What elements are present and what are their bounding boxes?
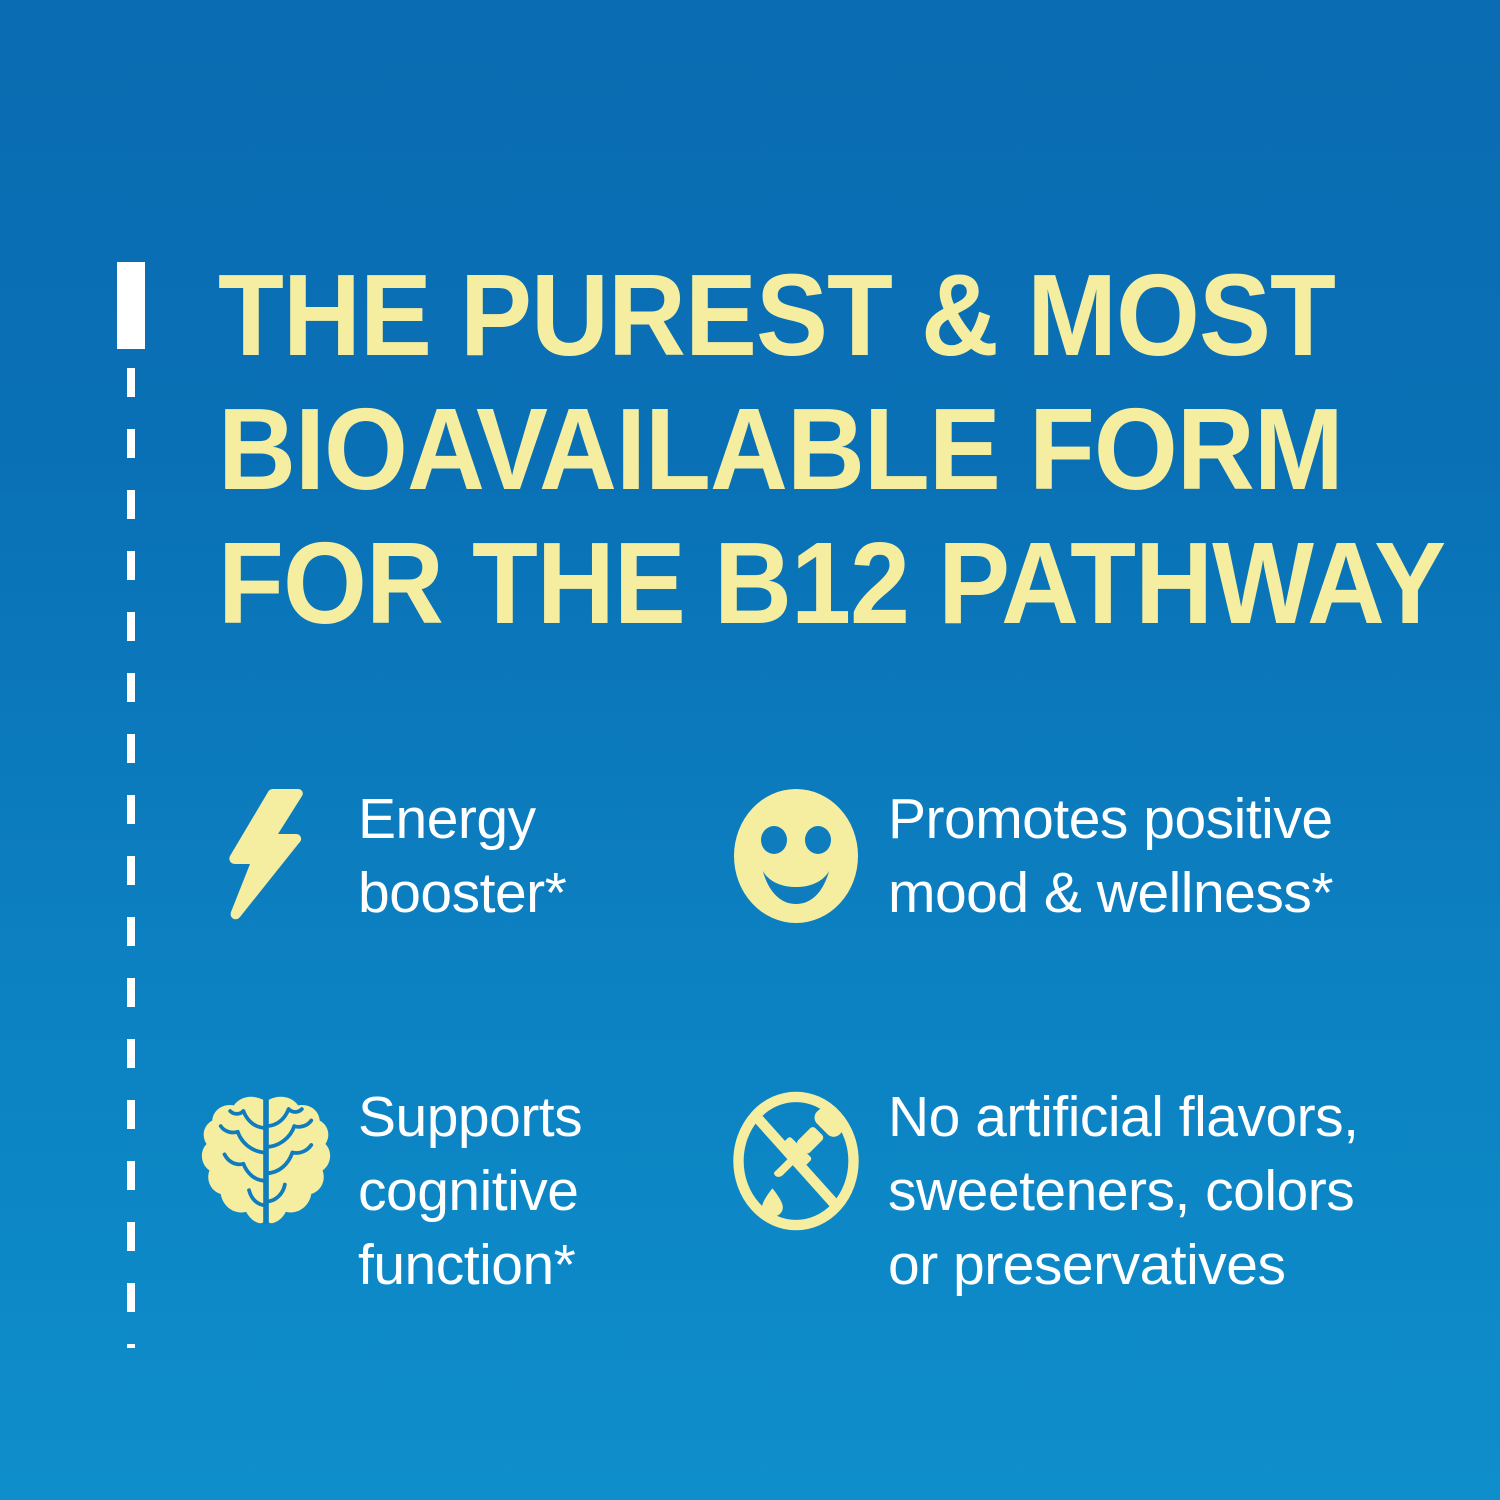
headline-line-2: BIOAVAILABLE FORM (218, 382, 1371, 516)
feature-no-artificial-text: No artificial flavors, sweeteners, color… (888, 1080, 1358, 1302)
no-dropper-icon (730, 1080, 862, 1225)
feature-energy-booster-text: Energy booster* (358, 780, 566, 930)
smiley-face-icon (730, 780, 862, 925)
feature-text-line: or preservatives (888, 1228, 1358, 1302)
page-title: THE PUREST & MOST BIOAVAILABLE FORM FOR … (218, 248, 1458, 650)
feature-cognitive-function-text: Supports cognitive function* (358, 1080, 582, 1302)
feature-text-line: mood & wellness* (888, 856, 1333, 930)
feature-text-line: Energy (358, 782, 566, 856)
feature-text-line: function* (358, 1228, 582, 1302)
accent-bar-dashed (127, 368, 135, 1348)
promo-poster: THE PUREST & MOST BIOAVAILABLE FORM FOR … (0, 0, 1500, 1500)
feature-text-line: sweeteners, colors (888, 1154, 1358, 1228)
brain-icon (200, 1080, 332, 1225)
feature-positive-mood: Promotes positive mood & wellness* (730, 780, 1470, 1080)
accent-bar-solid (117, 262, 145, 349)
headline-line-3: FOR THE B12 PATHWAY (218, 516, 1371, 650)
feature-positive-mood-text: Promotes positive mood & wellness* (888, 780, 1333, 930)
lightning-bolt-icon (200, 780, 332, 925)
feature-text-line: Promotes positive (888, 782, 1333, 856)
feature-text-line: booster* (358, 856, 566, 930)
feature-no-artificial: No artificial flavors, sweeteners, color… (730, 1080, 1470, 1380)
feature-text-line: No artificial flavors, (888, 1080, 1358, 1154)
feature-text-line: cognitive (358, 1154, 582, 1228)
feature-grid: Energy booster* Promotes positive mood &… (200, 780, 1470, 1380)
headline-line-1: THE PUREST & MOST (218, 248, 1371, 382)
feature-cognitive-function: Supports cognitive function* (200, 1080, 730, 1380)
feature-text-line: Supports (358, 1080, 582, 1154)
feature-energy-booster: Energy booster* (200, 780, 730, 1080)
